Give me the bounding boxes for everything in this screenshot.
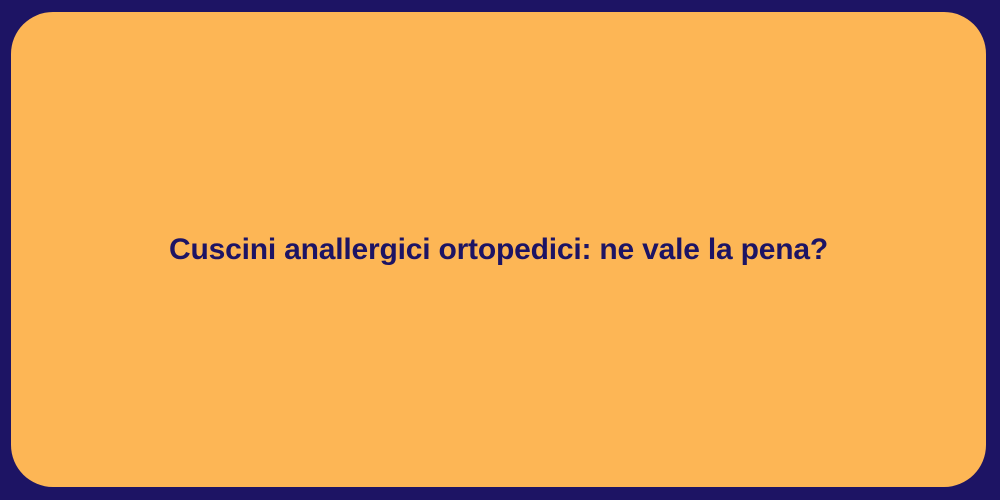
- page-frame: Cuscini anallergici ortopedici: ne vale …: [0, 0, 1000, 500]
- title-card: Cuscini anallergici ortopedici: ne vale …: [11, 12, 986, 487]
- page-title: Cuscini anallergici ortopedici: ne vale …: [129, 231, 868, 269]
